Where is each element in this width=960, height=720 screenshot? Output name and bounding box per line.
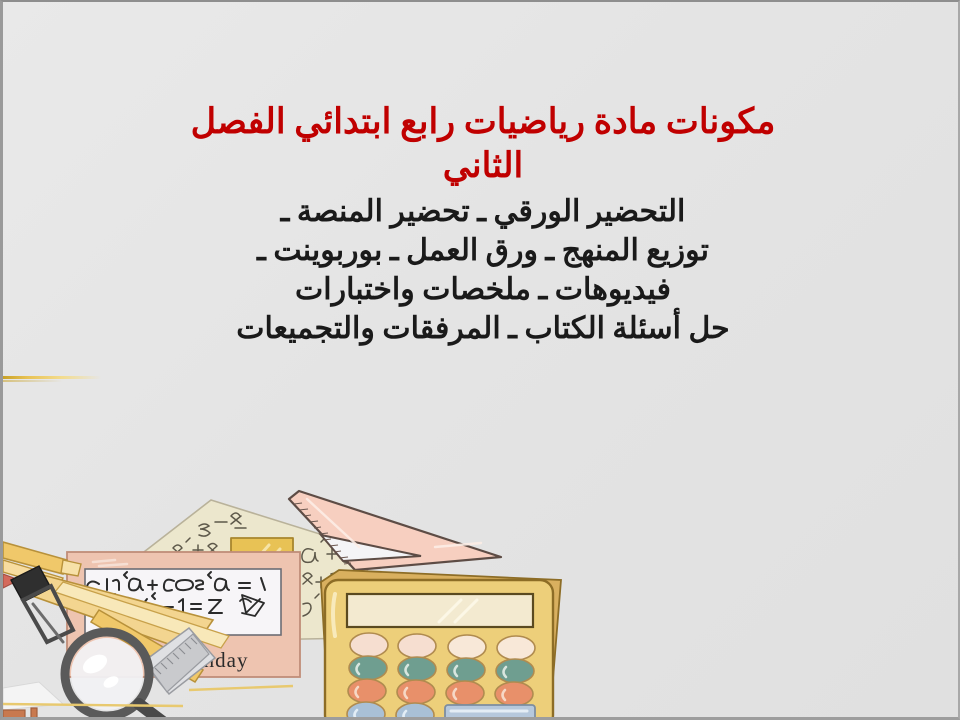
slide-body-line-3: فيديوهات ـ ملخصات واختبارات bbox=[123, 270, 843, 309]
slide-canvas: مكونات مادة رياضيات رابع ابتدائي الفصل ا… bbox=[0, 0, 960, 720]
slide-title-line-2: الثاني bbox=[123, 144, 843, 188]
slide-text-block: مكونات مادة رياضيات رابع ابتدائي الفصل ا… bbox=[123, 100, 843, 348]
slide-body-lines: التحضير الورقي ـ تحضير المنصة ـ توزيع ال… bbox=[123, 192, 843, 348]
gold-accent-line bbox=[3, 376, 101, 379]
slide-body-line-4: حل أسئلة الكتاب ـ المرفقات والتجميعات bbox=[123, 309, 843, 348]
math-supplies-illustration: o y x sunday bbox=[3, 442, 603, 720]
slide-body-line-1: التحضير الورقي ـ تحضير المنصة ـ bbox=[123, 192, 843, 231]
slide-body-line-2: توزيع المنهج ـ ورق العمل ـ بوربوينت ـ bbox=[123, 231, 843, 270]
slide-title-line-1: مكونات مادة رياضيات رابع ابتدائي الفصل bbox=[123, 100, 843, 144]
calculator bbox=[321, 570, 561, 720]
gold-accent-line-secondary bbox=[3, 380, 63, 382]
